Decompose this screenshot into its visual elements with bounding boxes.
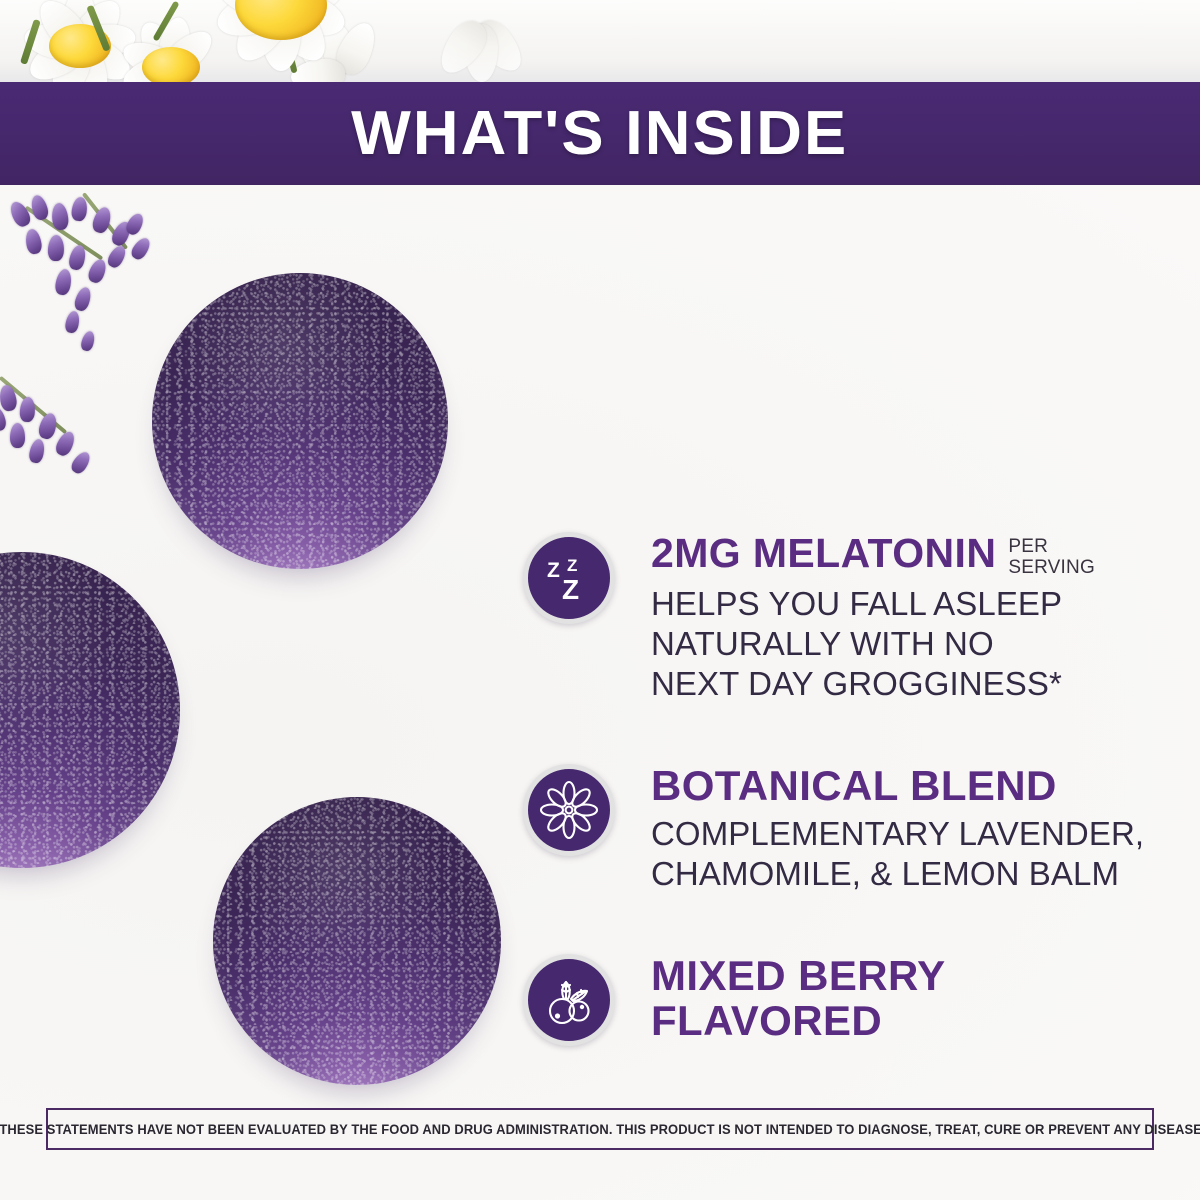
- feature-headline: BOTANICAL BLEND: [651, 764, 1144, 809]
- disclaimer-box: *THESE STATEMENTS HAVE NOT BEEN EVALUATE…: [46, 1108, 1154, 1150]
- feature-item-melatonin: Z Z Z 2MG MELATONIN PER SERVING HELPS YO…: [523, 530, 1183, 704]
- page-title: WHAT'S INSIDE: [351, 103, 848, 165]
- gummy-sphere: [213, 797, 501, 1085]
- feature-title: 2MG MELATONIN: [651, 532, 996, 575]
- whats-inside-infographic: WHAT'S INSIDE: [0, 0, 1200, 1200]
- botanical-flower-icon: [523, 764, 615, 856]
- chamomile-flower: [400, 0, 560, 82]
- feature-headline: MIXED BERRY FLAVORED: [651, 954, 946, 1043]
- gummy-sphere: [0, 552, 180, 868]
- feature-description: COMPLEMENTARY LAVENDER, CHAMOMILE, & LEM…: [651, 814, 1144, 895]
- feature-title: MIXED BERRY FLAVORED: [651, 954, 946, 1043]
- mixed-berry-icon: [523, 954, 615, 1046]
- disclaimer-text: *THESE STATEMENTS HAVE NOT BEEN EVALUATE…: [0, 1122, 1200, 1137]
- banner: WHAT'S INSIDE: [0, 82, 1200, 185]
- chamomile-photo-strip: [0, 0, 1200, 82]
- feature-list: Z Z Z 2MG MELATONIN PER SERVING HELPS YO…: [523, 530, 1183, 1094]
- feature-text: MIXED BERRY FLAVORED: [651, 952, 946, 1043]
- feature-text: BOTANICAL BLEND COMPLEMENTARY LAVENDER, …: [651, 762, 1144, 894]
- feature-headline: 2MG MELATONIN PER SERVING: [651, 532, 1095, 579]
- chamomile-flower: [176, 0, 386, 82]
- zzz-sleep-icon: Z Z Z: [523, 532, 615, 624]
- svg-text:Z: Z: [562, 574, 579, 605]
- feature-item-botanical: BOTANICAL BLEND COMPLEMENTARY LAVENDER, …: [523, 762, 1183, 894]
- gummy-sphere: [152, 273, 448, 569]
- feature-title: BOTANICAL BLEND: [651, 764, 1057, 809]
- feature-text: 2MG MELATONIN PER SERVING HELPS YOU FALL…: [651, 530, 1095, 704]
- feature-description: HELPS YOU FALL ASLEEP NATURALLY WITH NO …: [651, 584, 1095, 705]
- feature-item-flavor: MIXED BERRY FLAVORED: [523, 952, 1183, 1046]
- content-area: Z Z Z 2MG MELATONIN PER SERVING HELPS YO…: [0, 185, 1200, 1200]
- svg-text:Z: Z: [547, 559, 560, 582]
- per-serving-note: PER SERVING: [1008, 536, 1095, 579]
- svg-text:Z: Z: [567, 556, 577, 575]
